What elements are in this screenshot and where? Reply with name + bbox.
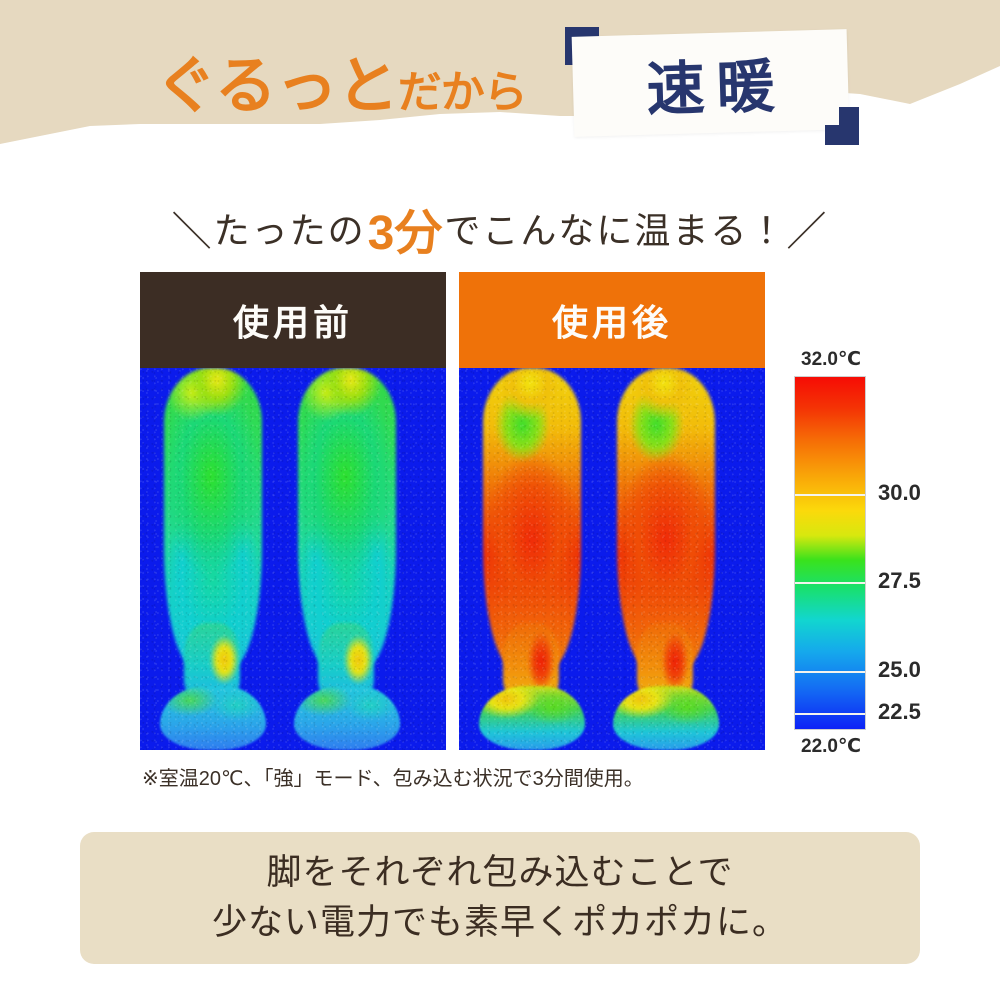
panel-before-use: 使用前 <box>140 272 446 750</box>
subtitle-part-1: たったの <box>214 202 366 254</box>
colorbar-tick-line <box>795 671 865 673</box>
handwritten-title-suffix: だから <box>398 68 527 117</box>
leg-left-after <box>477 368 587 750</box>
foot-region <box>479 686 585 750</box>
thermal-image-after <box>459 368 765 750</box>
footnote: ※室温20℃、「強」モード、包み込む状況で3分間使用。 <box>142 762 842 796</box>
panel-before-label: 使用前 <box>140 272 446 368</box>
caption-line-2: 少ない電力でも素早くポカポカに。 <box>212 901 788 945</box>
thermal-image-before <box>140 368 446 750</box>
colorbar-tick-label: 25.0 <box>878 657 921 683</box>
caption-box: 脚をそれぞれ包み込むことで 少ない電力でも素早くポカポカに。 <box>80 832 920 964</box>
colorbar-tick-label: 30.0 <box>878 480 921 506</box>
colorbar-min-label: 22.0℃ <box>786 735 876 758</box>
temperature-colorbar: 32.0℃ 22.0℃ 30.027.525.022.5 <box>786 348 986 758</box>
speed-warm-label: 速暖 <box>555 25 865 145</box>
colorbar-tick-label: 27.5 <box>878 568 921 594</box>
leg-right-after <box>611 368 721 750</box>
leg-right-before <box>292 368 402 750</box>
foot-region <box>613 686 719 750</box>
foot-region <box>294 686 400 750</box>
colorbar-tick-line <box>795 713 865 715</box>
colorbar-tick-label: 22.5 <box>878 699 921 725</box>
handwritten-title: ぐるっとだから <box>155 37 555 137</box>
slash-left-icon: ＼ <box>172 199 214 257</box>
handwritten-title-main: ぐるっと <box>155 52 398 121</box>
slash-right-icon: ／ <box>786 199 828 257</box>
subtitle-part-2: でこんなに温まる！ <box>444 202 786 254</box>
subtitle: ＼ たったの 3分 でこんなに温まる！ ／ <box>0 198 1000 258</box>
panel-after-label: 使用後 <box>459 272 765 368</box>
colorbar-gradient <box>794 376 866 730</box>
subtitle-highlight: 3分 <box>366 193 445 263</box>
page-root: ぐるっとだから 速暖 ＼ たったの 3分 でこんなに温まる！ ／ 使用前 <box>0 0 1000 1000</box>
label-text: 速暖 <box>572 29 850 137</box>
colorbar-tick-line <box>795 494 865 496</box>
thermal-comparison: 使用前 使用後 <box>140 272 765 750</box>
corner-bracket-icon-bottom-right <box>825 125 859 145</box>
panel-after-use: 使用後 <box>459 272 765 750</box>
leg-left-before <box>158 368 268 750</box>
colorbar-max-label: 32.0℃ <box>786 348 876 371</box>
caption-line-1: 脚をそれぞれ包み込むことで <box>267 851 734 895</box>
colorbar-tick-line <box>795 582 865 584</box>
foot-region <box>160 686 266 750</box>
